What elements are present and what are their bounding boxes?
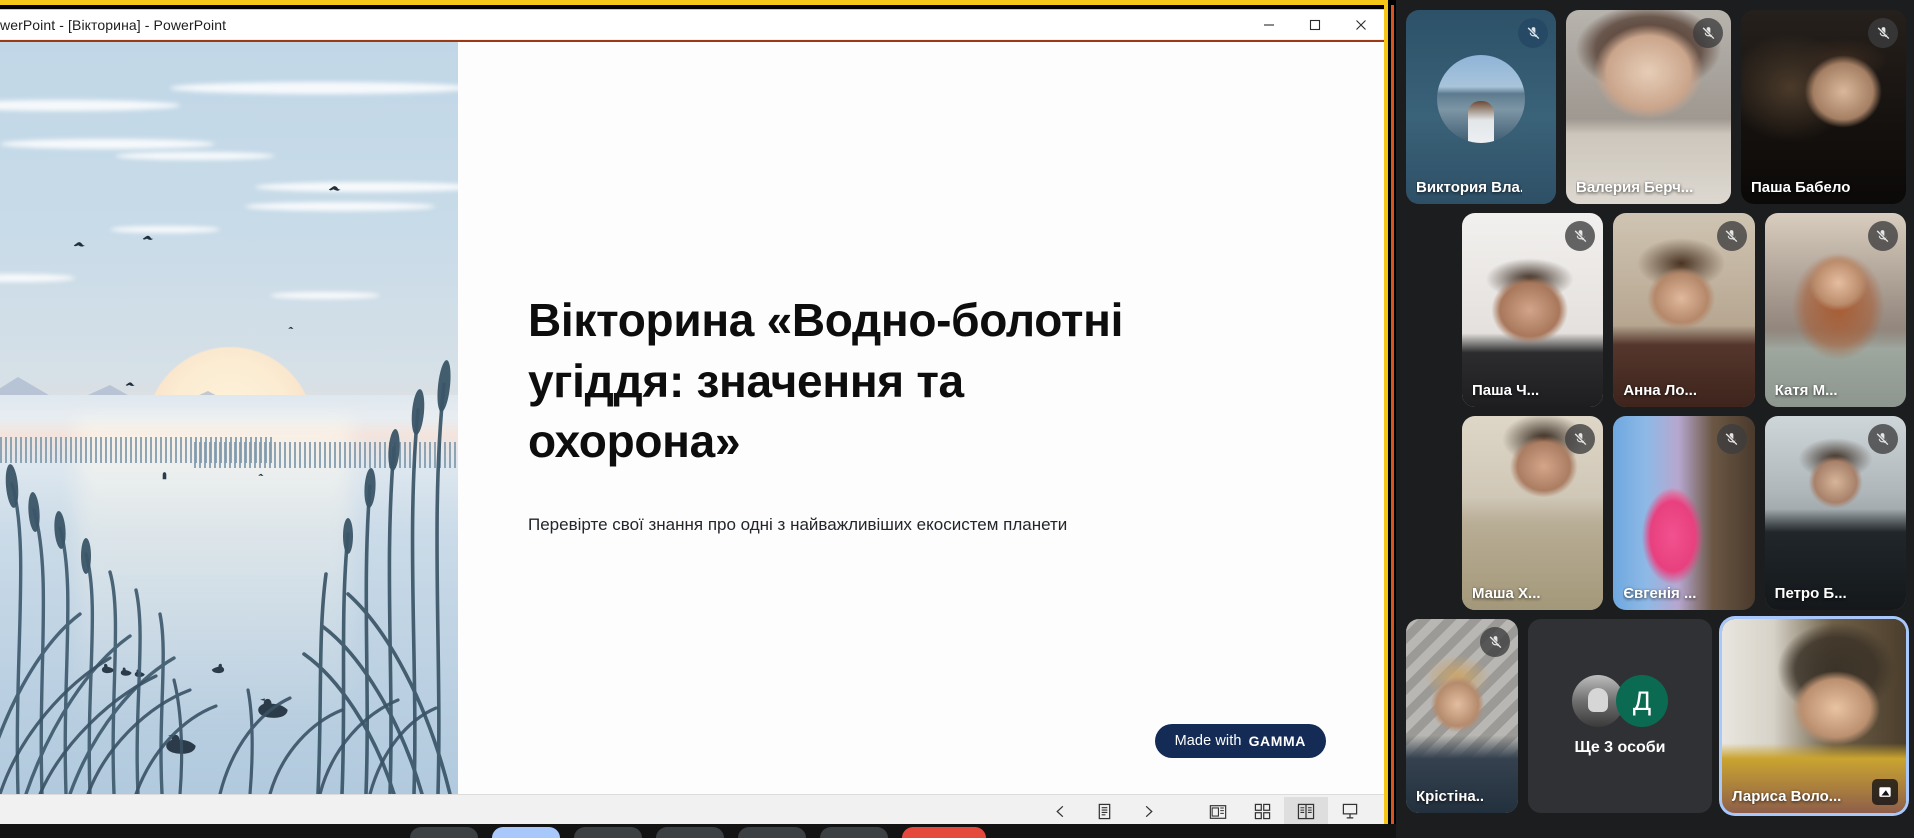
- window-title: werPoint - [Вікторина] - PowerPoint: [0, 17, 226, 33]
- mic-muted-icon: [1480, 627, 1510, 657]
- participant-name: Валерия Берч...: [1576, 179, 1697, 196]
- camera-toggle[interactable]: [410, 827, 478, 838]
- participant-row: Виктория Вла... Валерия Берч... Паша Баб…: [1406, 10, 1906, 204]
- more-avatars: Д: [1572, 675, 1668, 727]
- meeting-controls-bar: [0, 824, 1396, 838]
- participant-tile[interactable]: Паша Бабело: [1741, 10, 1906, 204]
- pin-tile-icon[interactable]: [1872, 779, 1898, 805]
- participant-row: Маша Х... Євгенія ... Петро Б...: [1406, 416, 1906, 610]
- cloud: [270, 292, 380, 299]
- next-slide-button[interactable]: [1126, 797, 1170, 827]
- raise-hand-button[interactable]: [574, 827, 642, 838]
- participants-panel: Виктория Вла... Валерия Берч... Паша Баб…: [1396, 0, 1914, 838]
- bird-icon: [258, 472, 266, 477]
- waterbird-icon: [101, 662, 117, 678]
- reading-view-button[interactable]: [1284, 797, 1328, 827]
- slide: Вікторина «Водно-болотні угіддя: значенн…: [0, 42, 1384, 794]
- reed-band-far: [194, 442, 458, 468]
- bird-icon: [125, 380, 139, 387]
- participant-tile[interactable]: Анна Ло...: [1613, 213, 1754, 407]
- mic-muted-icon: [1717, 221, 1747, 251]
- participant-tile[interactable]: Євгенія ...: [1613, 416, 1754, 610]
- participant-name: Виктория Вла...: [1416, 179, 1522, 196]
- previous-slide-button[interactable]: [1038, 797, 1082, 827]
- more-options-button[interactable]: [820, 827, 888, 838]
- participant-tile[interactable]: Катя М...: [1765, 213, 1906, 407]
- participant-name: Маша Х...: [1472, 585, 1569, 602]
- mic-muted-icon: [1518, 18, 1548, 48]
- badge-prefix: Made with: [1175, 733, 1242, 749]
- normal-view-button[interactable]: [1196, 797, 1240, 827]
- bird-icon: [142, 233, 158, 241]
- leave-call-button[interactable]: [902, 827, 986, 838]
- mic-muted-icon: [1868, 221, 1898, 251]
- slide-subtitle: Перевірте свої знання про одні з найважл…: [528, 512, 1248, 538]
- participant-tile[interactable]: Маша Х...: [1462, 416, 1603, 610]
- bird-icon: [73, 239, 90, 248]
- waterbird-icon: [134, 668, 147, 681]
- cloud: [0, 139, 215, 149]
- slide-sorter-button[interactable]: [1240, 797, 1284, 827]
- avatar-initial: Д: [1616, 675, 1668, 727]
- participant-name: Паша Бабело: [1751, 179, 1872, 196]
- reactions-button[interactable]: [656, 827, 724, 838]
- participant-tile[interactable]: Виктория Вла...: [1406, 10, 1556, 204]
- waterbird-icon: [165, 732, 207, 764]
- participant-tile-active-speaker[interactable]: Лариса Воло...: [1722, 619, 1906, 813]
- participant-name: Євгенія ...: [1623, 585, 1720, 602]
- mic-muted-icon: [1868, 424, 1898, 454]
- slideshow-button[interactable]: [1328, 797, 1372, 827]
- participant-row: Паша Ч... Анна Ло... Катя М...: [1406, 213, 1906, 407]
- close-icon[interactable]: [1338, 10, 1384, 40]
- waterbird-icon: [160, 472, 169, 483]
- participant-name: Лариса Воло...: [1732, 788, 1872, 805]
- powerpoint-statusbar: [0, 794, 1384, 828]
- cloud: [170, 82, 458, 94]
- window-controls: [1246, 10, 1384, 40]
- slide-canvas: Вікторина «Водно-болотні угіддя: значенн…: [0, 42, 1384, 794]
- participant-name: Паша Ч...: [1472, 382, 1569, 399]
- more-participants-label: Ще 3 особи: [1575, 739, 1666, 757]
- minimize-icon[interactable]: [1246, 10, 1292, 40]
- bird-icon: [288, 325, 296, 330]
- cloud: [115, 152, 275, 160]
- participant-name: Крістіна...: [1416, 788, 1484, 805]
- mic-muted-icon: [1717, 424, 1747, 454]
- mic-muted-icon: [1868, 18, 1898, 48]
- microphone-toggle[interactable]: [492, 827, 560, 838]
- slide-artwork: [0, 42, 458, 794]
- notes-button[interactable]: [1082, 797, 1126, 827]
- window-titlebar[interactable]: werPoint - [Вікторина] - PowerPoint: [0, 10, 1384, 40]
- participant-tile[interactable]: Крістіна...: [1406, 619, 1518, 813]
- share-screen-button[interactable]: [738, 827, 806, 838]
- cloud: [110, 226, 220, 233]
- participant-tile[interactable]: Валерия Берч...: [1566, 10, 1731, 204]
- participant-row: Крістіна... Д Ще 3 особи Лариса Воло...: [1406, 619, 1906, 813]
- participant-tile[interactable]: Петро Б...: [1765, 416, 1906, 610]
- more-participants-tile[interactable]: Д Ще 3 особи: [1528, 619, 1712, 813]
- participant-name: Катя М...: [1775, 382, 1872, 399]
- slide-text-area: Вікторина «Водно-болотні угіддя: значенн…: [458, 42, 1384, 794]
- slide-title: Вікторина «Водно-болотні угіддя: значенн…: [528, 290, 1188, 472]
- badge-brand: GAMMA: [1249, 733, 1306, 749]
- screen-root: werPoint - [Вікторина] - PowerPoint: [0, 0, 1914, 838]
- avatar: [1437, 55, 1525, 143]
- made-with-gamma-badge[interactable]: Made with GAMMA: [1155, 724, 1326, 758]
- waterbird-icon: [209, 662, 225, 678]
- waterbird-icon: [257, 696, 299, 728]
- maximize-icon[interactable]: [1292, 10, 1338, 40]
- cloud: [245, 202, 435, 211]
- participant-name: Петро Б...: [1775, 585, 1872, 602]
- participant-name: Анна Ло...: [1623, 382, 1720, 399]
- mic-muted-icon: [1693, 18, 1723, 48]
- participant-tile[interactable]: Паша Ч...: [1462, 213, 1603, 407]
- bird-icon: [328, 183, 346, 192]
- powerpoint-window: werPoint - [Вікторина] - PowerPoint: [0, 10, 1384, 828]
- waterbird-icon: [120, 666, 134, 680]
